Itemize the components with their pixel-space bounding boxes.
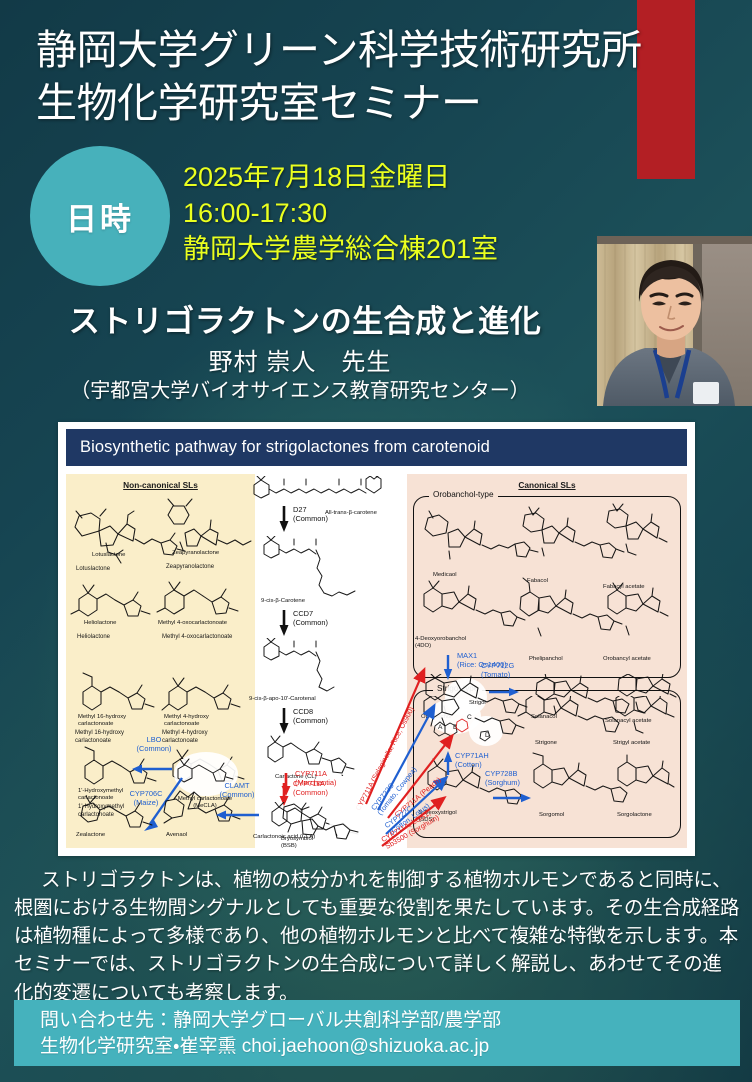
speaker-photo <box>597 236 752 406</box>
enzyme-lbo: LBO (Common) <box>130 736 178 753</box>
speaker-affiliation: （宇都宮大学バイオサイエンス教育研究センター） <box>0 378 600 404</box>
compound-lotuslactone: Lotuslactone <box>92 552 125 559</box>
compound-methyl-4-hydroxy-carlactonoate: Methyl 4-hydroxy carlactonoate <box>164 714 240 728</box>
group-orobanchol-label: Orobanchol-type <box>429 490 498 499</box>
pathway-figure-header: Biosynthetic pathway for strigolactones … <box>66 429 687 466</box>
svg-text:Lotuslactone: Lotuslactone <box>76 566 111 572</box>
speaker-photo-image <box>597 236 752 406</box>
cyp728b-arrow <box>491 792 533 804</box>
svg-text:Zeapyranolactone: Zeapyranolactone <box>166 564 215 570</box>
cyp711a-marchantia-arrow-glyph <box>279 772 293 798</box>
compound-fabacyl-acetate: Fabacyl acetate <box>603 584 645 591</box>
compound-sorgomol: Sorgomol <box>539 812 564 819</box>
enzyme-cyp711a-marchantia: CYP711A (Marchantia) <box>295 770 336 787</box>
enzyme-cyp712g: CYP712G (Tomato) <box>481 662 514 679</box>
svg-text:Methyl 16-hydroxy: Methyl 16-hydroxy <box>75 730 124 736</box>
compound-methyl-16-hydroxy-carlactonoate: Methyl 16-hydroxy carlactonoate <box>78 714 154 728</box>
compound-sorgolactone: Sorgolactone <box>617 812 652 819</box>
compound-1-hydroxymethyl-carlactonoate: 1'-Hydroxymethyl carlactonoate <box>78 788 152 802</box>
speaker-block: 野村 崇人 先生 （宇都宮大学バイオサイエンス教育研究センター） <box>0 348 600 404</box>
panel-non-canonical-title: Non-canonical SLs <box>66 480 255 490</box>
svg-text:Methyl 4-oxocarlactonoate: Methyl 4-oxocarlactonoate <box>162 634 233 640</box>
cyp71ah-arrow <box>441 750 455 776</box>
talk-title: ストリゴラクトンの生合成と進化 <box>0 296 610 341</box>
contact-line-2[interactable]: 生物化学研究室・崔宰熏 choi.jaehoon@shizuoka.ac.jp <box>40 1034 740 1060</box>
compound-methyl-4-oxocarlactonoate: Methyl 4-oxocarlactonoate <box>158 620 227 627</box>
enzyme-cyp728b: CYP728B (Sorghum) <box>485 770 520 787</box>
compound-phelipanchol: Phelipanchol <box>529 656 563 663</box>
pathway-figure-card: Biosynthetic pathway for strigolactones … <box>58 422 695 856</box>
mid-lower-group: CYP711A (Marchantia) Bryosymbiol (BSB) <box>255 474 407 848</box>
svg-text:Heliolactone: Heliolactone <box>77 634 111 640</box>
compound-fabacol: Fabacol <box>527 578 548 585</box>
compound-4do: 4-Deoxyorobanchol (4DO) <box>415 636 489 650</box>
clamt-arrow <box>213 808 261 822</box>
datetime-badge: 日時 <box>30 146 170 286</box>
poster-title: 静岡大学グリーン科学技術研究所 生物化学研究室セミナー <box>36 24 736 131</box>
seminar-date: 2025年7月18日金曜日 <box>183 160 498 196</box>
panel-canonical-title: Canonical SLs <box>407 480 687 490</box>
datetime-block: 2025年7月18日金曜日 16:00-17:30 静岡大学農学総合棟201室 <box>183 160 498 268</box>
compound-heliolactone: Heliolactone <box>84 620 116 627</box>
poster-title-line-2: 生物化学研究室セミナー <box>36 77 736 130</box>
speaker-name: 野村 崇人 先生 <box>0 348 600 378</box>
seminar-time: 16:00-17:30 <box>183 196 498 232</box>
abstract-text: ストリゴラクトンは、植物の枝分かれを制御する植物ホルモンであると同時に、根圏にお… <box>14 866 740 1007</box>
compound-orobancyl-acetate: Orobancyl acetate <box>603 656 651 663</box>
compound-zealactone: Zealactone <box>76 832 105 839</box>
abstract-block: ストリゴラクトンは、植物の枝分かれを制御する植物ホルモンであると同時に、根圏にお… <box>14 866 740 1007</box>
enzyme-cyp71ah: CYP71AH (Cotton) <box>455 752 489 769</box>
svg-text:carlactonoate: carlactonoate <box>75 738 112 744</box>
datetime-badge-label: 日時 <box>66 194 134 239</box>
compound-strigyl-acetate: Strigyl acetate <box>613 740 650 747</box>
pathway-figure-body: Non-canonical SLs <box>66 474 687 848</box>
seminar-poster: 静岡大学グリーン科学技術研究所 生物化学研究室セミナー 日時 2025年7月18… <box>0 0 752 1082</box>
contact-footer: 問い合わせ先：静岡大学グローバル共創科学部/農学部 生物化学研究室・崔宰熏 ch… <box>14 1000 740 1066</box>
contact-line-1: 問い合わせ先：静岡大学グローバル共創科学部/農学部 <box>40 1008 740 1034</box>
panel-canonical: Canonical SLs Orobanchol-type Strigol-ty… <box>407 474 687 848</box>
compound-zeapyranolactone: Zeapyranolactone <box>172 550 219 557</box>
seminar-venue: 静岡大学農学総合棟201室 <box>183 232 498 268</box>
compound-strigone: Strigone <box>535 740 557 747</box>
compound-medicaol: Medicaol <box>433 572 457 579</box>
compound-strigol: Strigol <box>469 700 486 707</box>
pathway-figure-title: Biosynthetic pathway for strigolactones … <box>80 438 490 457</box>
compound-avenaol: Avenaol <box>166 832 187 839</box>
compound-bsb: Bryosymbiol (BSB) <box>281 836 341 850</box>
bsb-structure <box>279 800 389 840</box>
ring-label-outlines <box>433 718 495 746</box>
poster-title-line-1: 静岡大学グリーン科学技術研究所 <box>36 24 736 77</box>
